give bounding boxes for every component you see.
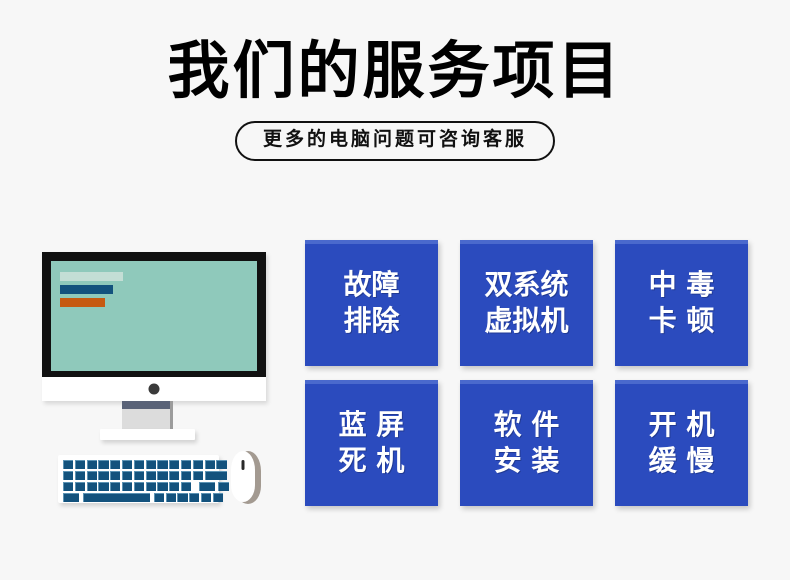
keyboard-key [157,471,167,480]
keyboard-key [169,460,179,469]
keyboard-key [154,493,164,502]
keyboard-key [166,493,176,502]
keyboard-key [134,471,144,480]
keyboard-key [205,460,215,469]
keyboard-key-arrow-up [218,482,228,491]
monitor-icon [42,252,266,377]
keyboard-key [75,471,85,480]
keyboard-key [134,482,144,491]
monitor-stand-neck-top [122,401,170,409]
keyboard-key [181,460,191,469]
service-tile-fault-troubleshooting[interactable]: 故障排除 [305,240,438,366]
keyboard-key [122,471,132,480]
keyboard-key [134,460,144,469]
keyboard-key [75,460,85,469]
monitor-power-dot-icon [149,384,160,395]
subtitle-pill: 更多的电脑问题可咨询客服 [235,121,555,161]
keyboard-key [87,482,97,491]
keyboard-key [181,471,191,480]
keyboard-key [146,460,156,469]
keyboard-key [189,493,199,502]
header: 我们的服务项目 更多的电脑问题可咨询客服 [0,38,790,161]
keyboard-key [169,482,179,491]
service-tile-label-line2: 安 装 [494,443,560,479]
service-tile-label-line2: 虚拟机 [484,303,568,339]
service-tile-label-line1: 中 毒 [649,267,715,303]
service-tile-label-line2: 死 机 [339,443,405,479]
keyboard-key-space [83,493,150,502]
page-title: 我们的服务项目 [0,38,790,103]
monitor-screen [51,261,257,371]
service-tile-label-line1: 故障 [343,267,399,303]
service-tile-software-installation[interactable]: 软 件安 装 [460,380,593,506]
service-tile-label-line2: 排除 [343,303,399,339]
keyboard-key [75,482,85,491]
monitor-stand-base [100,429,195,440]
screen-bar-blue-icon [60,285,113,294]
keyboard-key [146,482,156,491]
keyboard-key [146,471,156,480]
service-tile-blue-screen-crash[interactable]: 蓝 屏死 机 [305,380,438,506]
keyboard-key [110,471,120,480]
keyboard-key [193,460,203,469]
mouse-icon [231,451,261,504]
service-tile-label-line1: 双系统 [484,267,568,303]
keyboard-key [63,471,73,480]
keyboard-key [63,482,73,491]
screen-bar-light-icon [60,272,123,281]
keyboard-key [87,471,97,480]
desktop-computer-illustration [34,240,284,510]
keyboard-key-ctrl [63,493,79,502]
keyboard-key [63,460,73,469]
keyboard-key-enter-bottom [199,482,215,491]
service-tile-label-line2: 缓 慢 [649,443,715,479]
service-tile-label-line1: 软 件 [494,407,560,443]
keyboard-key-enter-top [205,471,227,480]
service-tile-label-line2: 卡 顿 [649,303,715,339]
monitor-stand-neck [122,401,173,429]
service-tile-label-line1: 开 机 [649,407,715,443]
keyboard-key [157,482,167,491]
keyboard-key [122,482,132,491]
keyboard-icon [58,455,219,503]
service-tile-label-line1: 蓝 屏 [339,407,405,443]
keyboard-key [98,482,108,491]
mouse-scroll-wheel-icon [242,460,245,470]
keyboard-key [181,482,191,491]
service-tile-virus-lag[interactable]: 中 毒卡 顿 [615,240,748,366]
keyboard-key [157,460,167,469]
keyboard-key [216,460,226,469]
keyboard-key [110,460,120,469]
keyboard-key [213,493,223,502]
service-grid: 故障排除双系统虚拟机中 毒卡 顿蓝 屏死 机软 件安 装开 机缓 慢 [305,240,750,506]
page-root: 我们的服务项目 更多的电脑问题可咨询客服 故障排除 [0,0,790,580]
keyboard-key [98,460,108,469]
screen-bar-orange-icon [60,298,105,307]
keyboard-key [201,493,211,502]
keyboard-key [193,471,203,480]
service-tile-slow-boot[interactable]: 开 机缓 慢 [615,380,748,506]
keyboard-key [98,471,108,480]
keyboard-key [169,471,179,480]
keyboard-key [177,493,187,502]
keyboard-key [122,460,132,469]
keyboard-key [110,482,120,491]
mouse-body [231,451,255,502]
monitor-chin [42,377,266,401]
keyboard-key [87,460,97,469]
service-tile-dual-system-virtual-machine[interactable]: 双系统虚拟机 [460,240,593,366]
subtitle-container: 更多的电脑问题可咨询客服 [0,121,790,161]
